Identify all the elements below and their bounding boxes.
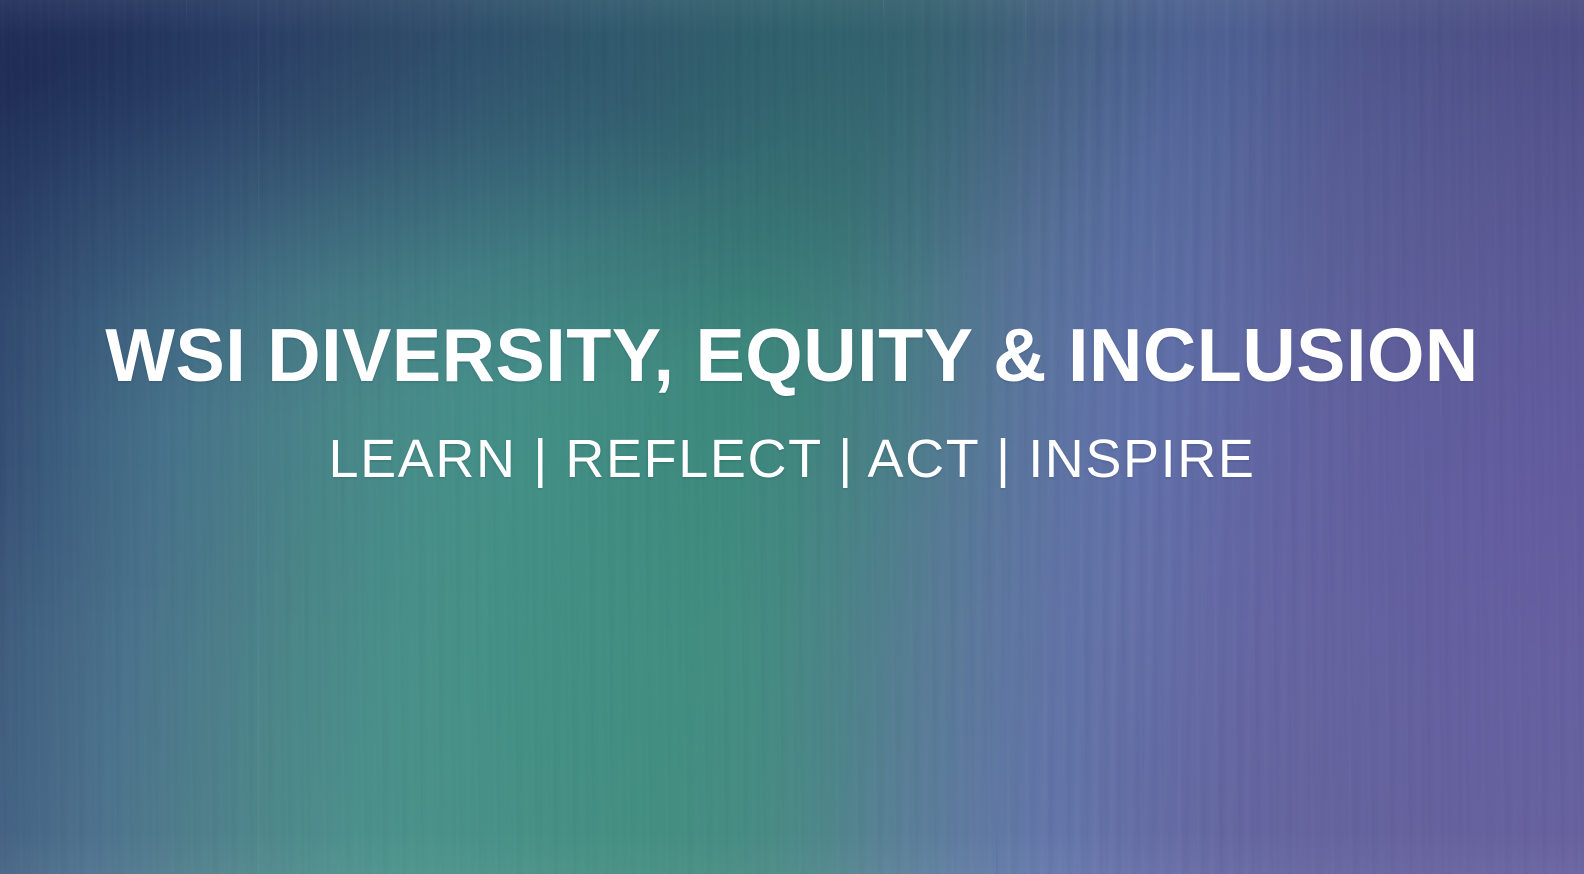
dei-hero-banner: WSI DIVERSITY, EQUITY & INCLUSION LEARN … bbox=[0, 0, 1584, 874]
banner-headline: WSI DIVERSITY, EQUITY & INCLUSION bbox=[105, 318, 1479, 393]
banner-subheadline: LEARN | REFLECT | ACT | INSPIRE bbox=[329, 432, 1256, 486]
banner-text-block: WSI DIVERSITY, EQUITY & INCLUSION LEARN … bbox=[0, 0, 1584, 874]
